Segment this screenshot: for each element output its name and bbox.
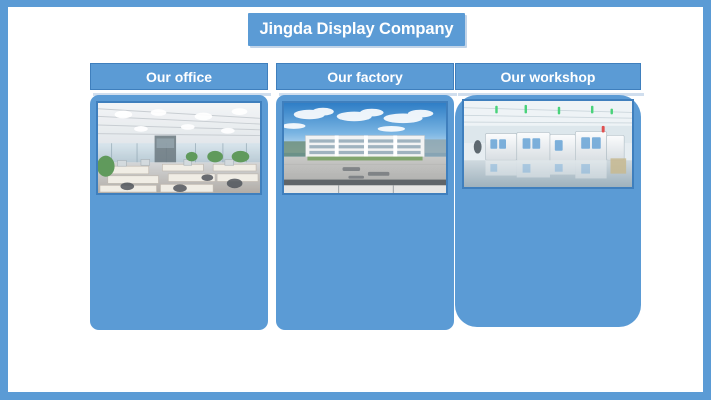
card-header-our-factory: Our factory	[276, 63, 454, 90]
card-header-label: Our factory	[327, 69, 402, 85]
office-photo	[96, 101, 262, 195]
card-our-factory: Our factory	[276, 63, 454, 90]
card-our-workshop: Our workshop	[455, 63, 641, 90]
card-header-our-office: Our office	[90, 63, 268, 90]
slide-title-banner: Jingda Display Company	[248, 13, 465, 46]
factory-photo	[282, 101, 448, 195]
workshop-photo	[462, 99, 634, 189]
slide-canvas: Jingda Display Company Our office	[8, 7, 703, 392]
slide-frame: Jingda Display Company Our office	[0, 0, 711, 400]
card-our-office: Our office	[90, 63, 268, 90]
page-title: Jingda Display Company	[259, 20, 453, 39]
card-header-our-workshop: Our workshop	[455, 63, 641, 90]
card-header-label: Our workshop	[501, 69, 596, 85]
card-header-label: Our office	[146, 69, 212, 85]
